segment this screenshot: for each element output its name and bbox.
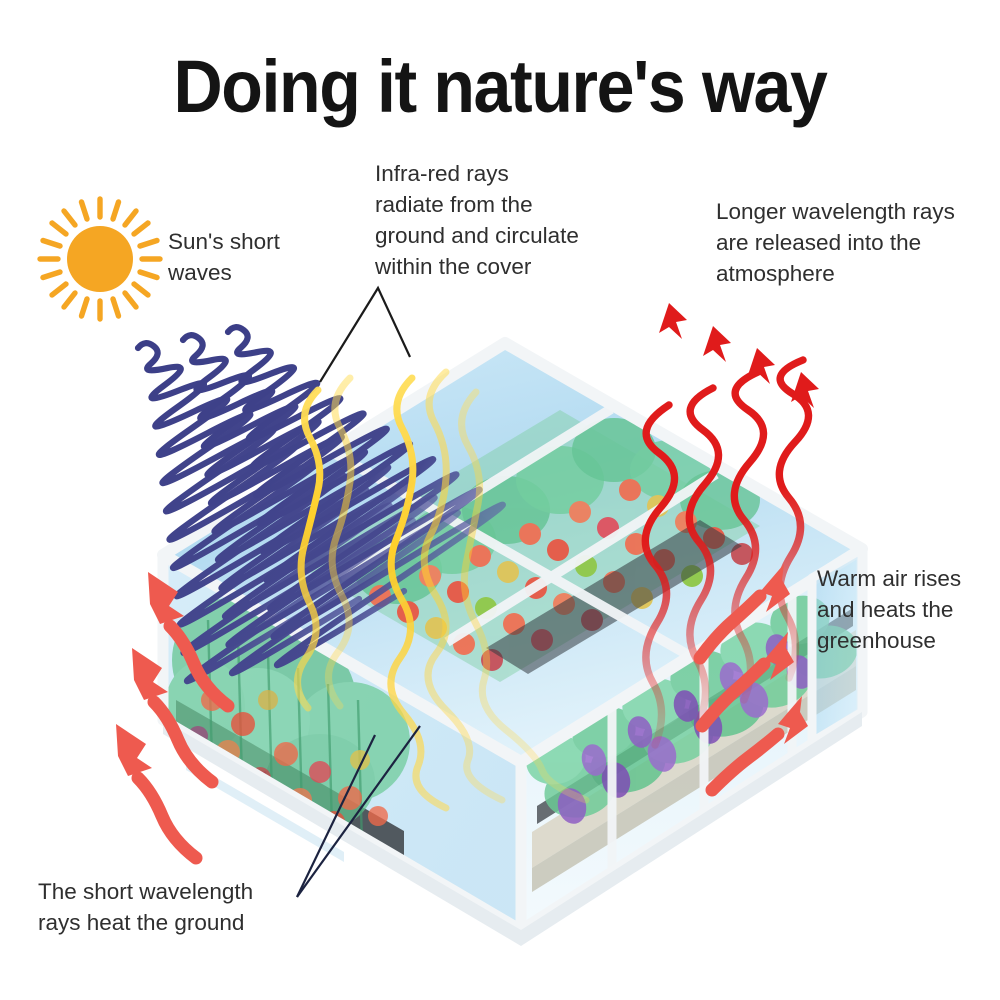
caption-suns-short-waves: Sun's short waves	[168, 226, 280, 288]
caption-short-wavelength-rays: The short wavelength rays heat the groun…	[38, 876, 253, 938]
caption-infra-red-rays: Infra-red rays radiate from the ground a…	[375, 158, 579, 282]
caption-warm-air-rises: Warm air rises and heats the greenhouse	[817, 563, 961, 656]
infrared-pointer	[320, 288, 410, 382]
long-wave-arrowheads	[659, 303, 819, 408]
sun-icon	[40, 199, 160, 319]
caption-longer-wavelength-rays: Longer wavelength rays are released into…	[716, 196, 955, 289]
infographic-canvas: Doing it nature's way	[0, 0, 1000, 1000]
greenhouse-diagram	[0, 0, 1000, 1000]
